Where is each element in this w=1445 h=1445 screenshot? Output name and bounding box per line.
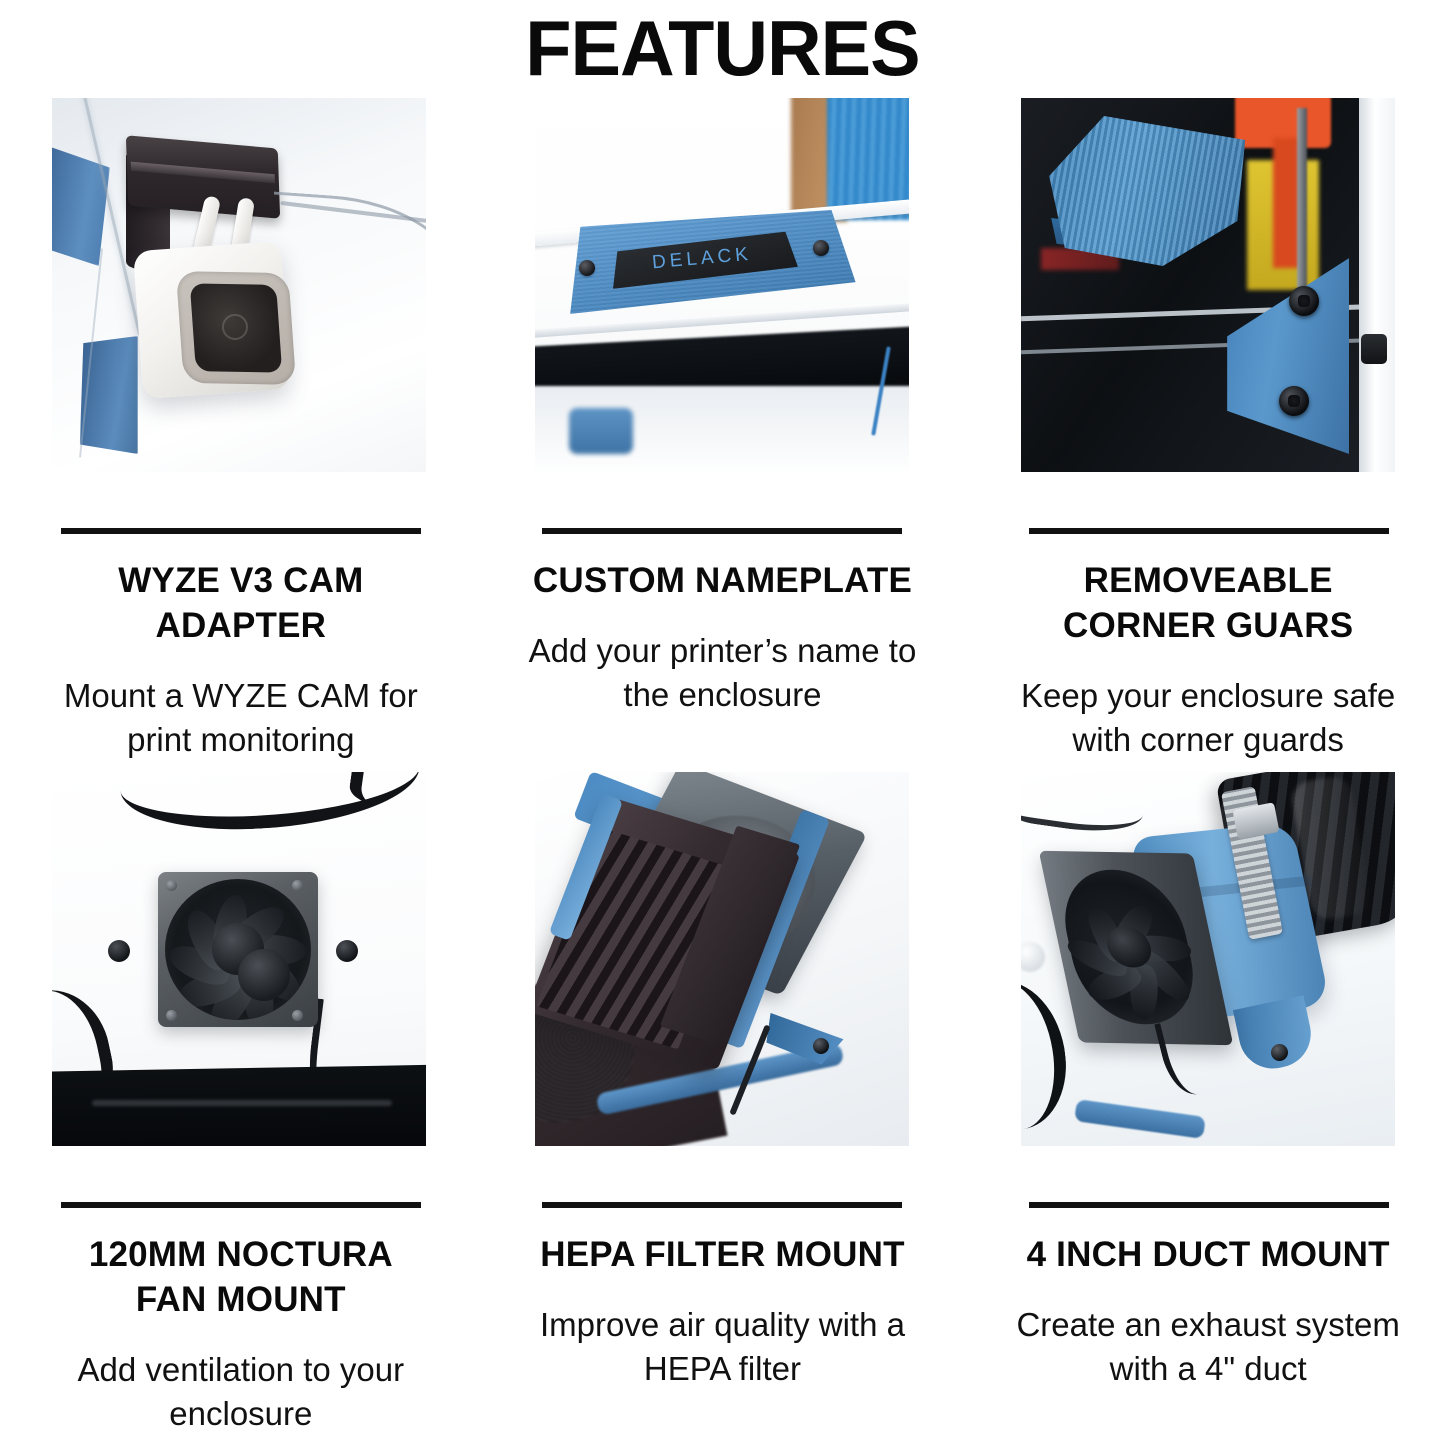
features-page: FEATURES WYZE <box>0 0 1445 1445</box>
page-title: FEATURES <box>22 2 1424 94</box>
divider-rule <box>542 528 902 534</box>
feature-heading: 4 INCH DUCT MOUNT <box>1018 1232 1398 1277</box>
divider-rule <box>61 528 421 534</box>
duct-mount-photo <box>1021 772 1395 1146</box>
feature-description: Add ventilation to your enclosure <box>35 1348 447 1436</box>
feature-card-120mm-noctura-fan-mount: 120MM NOCTURA FAN MOUNT Add ventilation … <box>0 772 482 1445</box>
feature-description: Mount a WYZE CAM for print monitoring <box>35 674 447 762</box>
feature-heading: HEPA FILTER MOUNT <box>532 1232 912 1277</box>
fan-mount-photo <box>52 772 426 1146</box>
wyze-cam-adapter-photo <box>52 98 426 472</box>
feature-card-hepa-filter-mount: HEPA FILTER MOUNT Improve air quality wi… <box>482 772 964 1445</box>
feature-heading: REMOVEABLE CORNER GUARS <box>1018 558 1398 648</box>
feature-heading: CUSTOM NAMEPLATE <box>532 558 912 603</box>
feature-card-4-inch-duct-mount: 4 INCH DUCT MOUNT Create an exhaust syst… <box>963 772 1445 1445</box>
feature-heading: WYZE V3 CAM ADAPTER <box>51 558 431 648</box>
divider-rule <box>61 1202 421 1208</box>
hepa-filter-mount-photo <box>535 772 909 1146</box>
feature-heading: 120MM NOCTURA FAN MOUNT <box>51 1232 431 1322</box>
feature-description: Keep your enclosure safe with corner gua… <box>1002 674 1414 762</box>
feature-description: Add your printer’s name to the enclosure <box>516 629 928 717</box>
divider-rule <box>1029 1202 1389 1208</box>
feature-description: Create an exhaust system with a 4" duct <box>1002 1303 1414 1391</box>
divider-rule <box>542 1202 902 1208</box>
feature-card-removeable-corner-guars: REMOVEABLE CORNER GUARS Keep your enclos… <box>963 98 1445 772</box>
corner-guard-photo <box>1021 98 1395 472</box>
custom-nameplate-photo: DELACK <box>535 98 909 472</box>
feature-description: Improve air quality with a HEPA filter <box>516 1303 928 1391</box>
feature-card-wyze-v3-cam-adapter: WYZE V3 CAM ADAPTER Mount a WYZE CAM for… <box>0 98 482 772</box>
features-grid: WYZE V3 CAM ADAPTER Mount a WYZE CAM for… <box>0 98 1445 1445</box>
divider-rule <box>1029 528 1389 534</box>
feature-card-custom-nameplate: DELACK CUSTOM NAMEPLATE Add your printer… <box>482 98 964 772</box>
